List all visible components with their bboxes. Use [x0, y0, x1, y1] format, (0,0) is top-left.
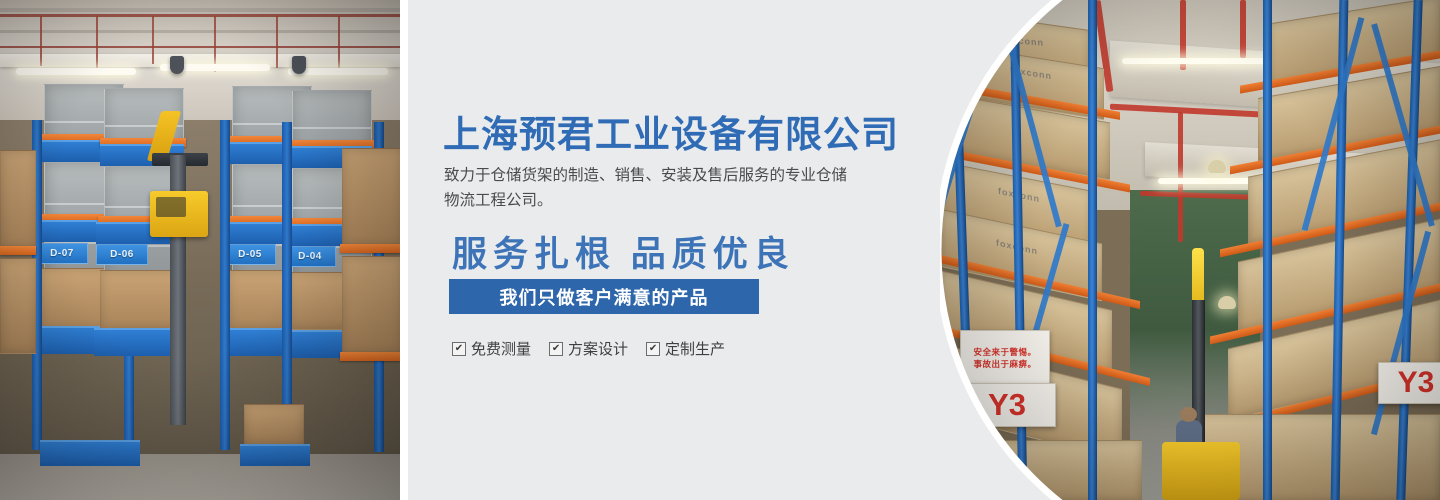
checkbox-checked-icon: ✔ [646, 342, 660, 356]
right-photo-wrap: foxconn foxconn foxconn foxconn [940, 0, 1440, 500]
feature-label: 方案设计 [568, 338, 628, 359]
cta-button[interactable]: 我们只做客户满意的产品 [449, 279, 759, 314]
reach-forklift [1156, 300, 1246, 500]
pipe-hanger [338, 16, 340, 70]
high-bay-lamp [170, 56, 184, 74]
feature-label: 免费测量 [471, 338, 531, 359]
carton-stack [342, 148, 400, 246]
promo-banner: D-07 D-06 D-05 [0, 0, 1440, 500]
high-bay-lamp [292, 56, 306, 74]
company-title: 上海预君工业设备有限公司 [443, 104, 899, 158]
pipe-hanger [276, 16, 278, 68]
pipe-hanger [96, 16, 98, 68]
feature-list: ✔ 免费测量 ✔ 方案设计 ✔ 定制生产 [452, 338, 725, 359]
ceiling-light [16, 68, 136, 75]
rack-beam [340, 352, 400, 361]
blue-pallet [40, 440, 140, 466]
carton-stack [342, 256, 400, 354]
rack-beam [0, 246, 36, 255]
carton-stack [244, 404, 304, 446]
ceiling-pipe [0, 46, 400, 48]
ceiling-beam [0, 30, 400, 33]
carton-stack [0, 150, 36, 248]
forklift-antenna [1192, 248, 1204, 308]
feature-item-custom-production: ✔ 定制生产 [646, 338, 725, 359]
rack-upright [1088, 0, 1097, 500]
forklift-cab [150, 191, 208, 237]
ceiling-pipe [0, 14, 400, 17]
rack-upright [1263, 0, 1272, 500]
aisle-sign-y3-right: Y3 [1378, 362, 1440, 404]
left-warehouse-photo: D-07 D-06 D-05 [0, 0, 400, 500]
pipe-hanger [152, 16, 154, 64]
forklift-body [1162, 442, 1240, 500]
feature-item-scheme-design: ✔ 方案设计 [549, 338, 628, 359]
safety-sign: 安全来于警惕。 事故出于麻痹。 [960, 330, 1050, 386]
sprinkler-riser [1178, 112, 1183, 242]
carton-stack [0, 258, 36, 354]
aisle-sign-y3: Y3 [958, 383, 1056, 427]
blue-pallet [240, 444, 310, 466]
rack-beam [340, 244, 400, 253]
company-subtitle: 致力于仓储货架的制造、销售、安装及售后服务的专业仓储物流工程公司。 [444, 163, 862, 213]
pipe-hanger [40, 16, 42, 66]
photo-divider [400, 0, 408, 500]
right-warehouse-photo: foxconn foxconn foxconn foxconn [940, 0, 1440, 500]
rack-upright [220, 120, 230, 450]
vna-forklift [150, 95, 208, 425]
rack-upright [282, 122, 292, 452]
ceiling-beam [0, 8, 400, 12]
safety-sign-line-1: 安全来于警惕。 [973, 346, 1036, 358]
rack-label-d07: D-07 [36, 243, 88, 264]
safety-sign-line-2: 事故出于麻痹。 [973, 358, 1036, 370]
banner-text-block: 上海预君工业设备有限公司 致力于仓储货架的制造、销售、安装及售后服务的专业仓储物… [440, 0, 960, 500]
slogan: 服务扎根 品质优良 [452, 226, 795, 277]
checkbox-checked-icon: ✔ [452, 342, 466, 356]
feature-item-free-measure: ✔ 免费测量 [452, 338, 531, 359]
rack-label-d06: D-06 [96, 244, 148, 265]
checkbox-checked-icon: ✔ [549, 342, 563, 356]
palletized-load [940, 440, 1142, 500]
feature-label: 定制生产 [665, 338, 725, 359]
rack-label-d05: D-05 [224, 244, 276, 265]
